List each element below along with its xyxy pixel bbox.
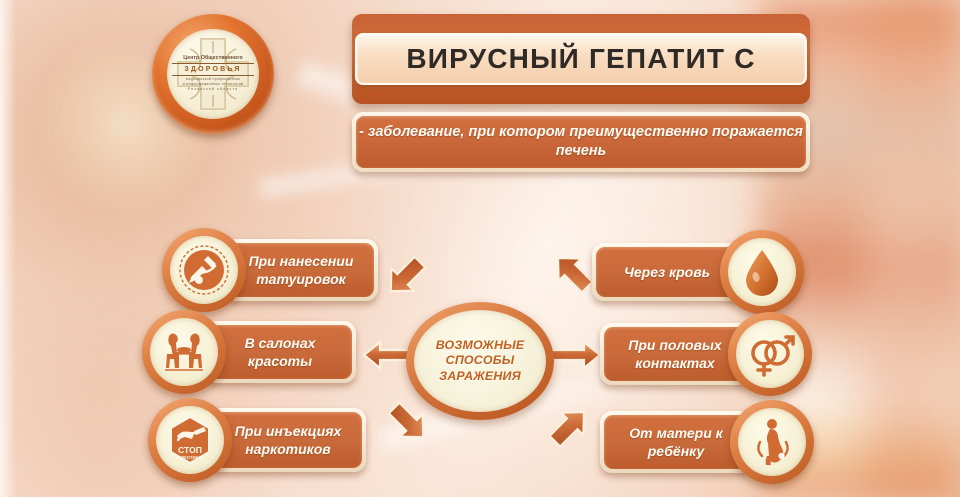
sex-label: При половых контактах [604,336,746,372]
arrow-down-right [538,392,600,454]
drugs-badge-inner: СТОП НАРКОТИКАМ [156,406,224,474]
center-line-3: ЗАРАЖЕНИЯ [436,369,525,385]
node-blood[interactable]: Через кровь [592,230,804,314]
node-beauty-salon[interactable]: В салонах красоты [142,310,356,394]
background-right-glow [864,0,960,497]
logo-line-4: Рязанской области [170,87,256,93]
center-line-1: ВОЗМОЖНЫЕ [436,338,525,354]
center-label: ВОЗМОЖНЫЕ СПОСОБЫ ЗАРАЖЕНИЯ [436,338,525,385]
mother-badge [730,400,814,484]
arrow-up-right [538,242,600,304]
title-plate: ВИРУСНЫЙ ГЕПАТИТ С [355,33,807,85]
logo-line-1: Центр Общественного [170,55,256,62]
title-banner: ВИРУСНЫЙ ГЕПАТИТ С [352,14,810,104]
salon-pill: В салонах красоты [208,325,352,379]
salon-badge [142,310,226,394]
drugs-frame: При инъекциях наркотиков [210,408,366,472]
tattoo-badge [162,228,246,312]
stop-drugs-icon: СТОП НАРКОТИКАМ [164,414,216,466]
tattoo-label: При нанесении татуировок [228,252,374,288]
gender-symbols-icon [744,329,796,379]
subtitle-text: - заболевание, при котором преимуществен… [356,123,806,161]
logo-line-2: ЗДОРОВЬЯ [170,65,256,74]
infographic-canvas: Центр Общественного ЗДОРОВЬЯ медицинской… [0,0,960,497]
salon-frame: В салонах красоты [204,321,356,383]
center-disc: ВОЗМОЖНЫЕ СПОСОБЫ ЗАРАЖЕНИЯ [414,310,546,412]
mother-pill: От матери к ребёнку [604,415,748,469]
logo-divider-top [172,63,254,64]
subtitle-plate: - заболевание, при котором преимуществен… [356,116,806,168]
blood-label: Через кровь [614,263,720,281]
salon-label: В салонах красоты [208,334,352,370]
tattoo-badge-inner [170,236,238,304]
page-title: ВИРУСНЫЙ ГЕПАТИТ С [406,43,755,75]
drugs-icon-text-2: НАРКОТИКАМ [175,455,205,460]
blood-drop-icon [742,247,782,297]
logo-inner-disc: Центр Общественного ЗДОРОВЬЯ медицинской… [167,29,259,119]
tattoo-pill: При нанесении татуировок [228,243,374,297]
mother-badge-inner [738,408,806,476]
blood-pill: Через кровь [596,247,738,297]
logo-divider-bottom [172,75,254,76]
sex-badge [728,312,812,396]
arrow-up-left [374,242,436,304]
subtitle-banner: - заболевание, при котором преимуществен… [352,112,810,172]
organization-logo: Центр Общественного ЗДОРОВЬЯ медицинской… [152,14,274,134]
node-tattoo[interactable]: При нанесении татуировок [162,228,378,312]
center-line-2: СПОСОБЫ [436,353,525,369]
node-mother-to-child[interactable]: От матери к ребёнку [600,400,814,484]
background-left-edge [0,0,16,497]
blood-badge-inner [728,238,796,306]
tattoo-frame: При нанесении татуировок [224,239,378,301]
pregnant-woman-icon [746,416,798,468]
salon-badge-inner [150,318,218,386]
drugs-icon-text-1: СТОП [178,445,202,455]
sex-pill: При половых контактах [604,327,746,381]
center-node: ВОЗМОЖНЫЕ СПОСОБЫ ЗАРАЖЕНИЯ [406,302,554,420]
tattoo-machine-icon [178,244,230,296]
beauty-salon-icon [157,328,211,376]
drugs-label: При инъекциях наркотиков [214,422,362,458]
drugs-badge: СТОП НАРКОТИКАМ [148,398,232,482]
blood-badge [720,230,804,314]
mother-label: От матери к ребёнку [604,424,748,460]
sex-badge-inner [736,320,804,388]
drugs-pill: При инъекциях наркотиков [214,412,362,468]
node-sexual-contact[interactable]: При половых контактах [600,312,812,396]
logo-text-block: Центр Общественного ЗДОРОВЬЯ медицинской… [170,55,256,93]
node-drug-injection[interactable]: СТОП НАРКОТИКАМ При инъекциях наркотиков [148,398,366,482]
